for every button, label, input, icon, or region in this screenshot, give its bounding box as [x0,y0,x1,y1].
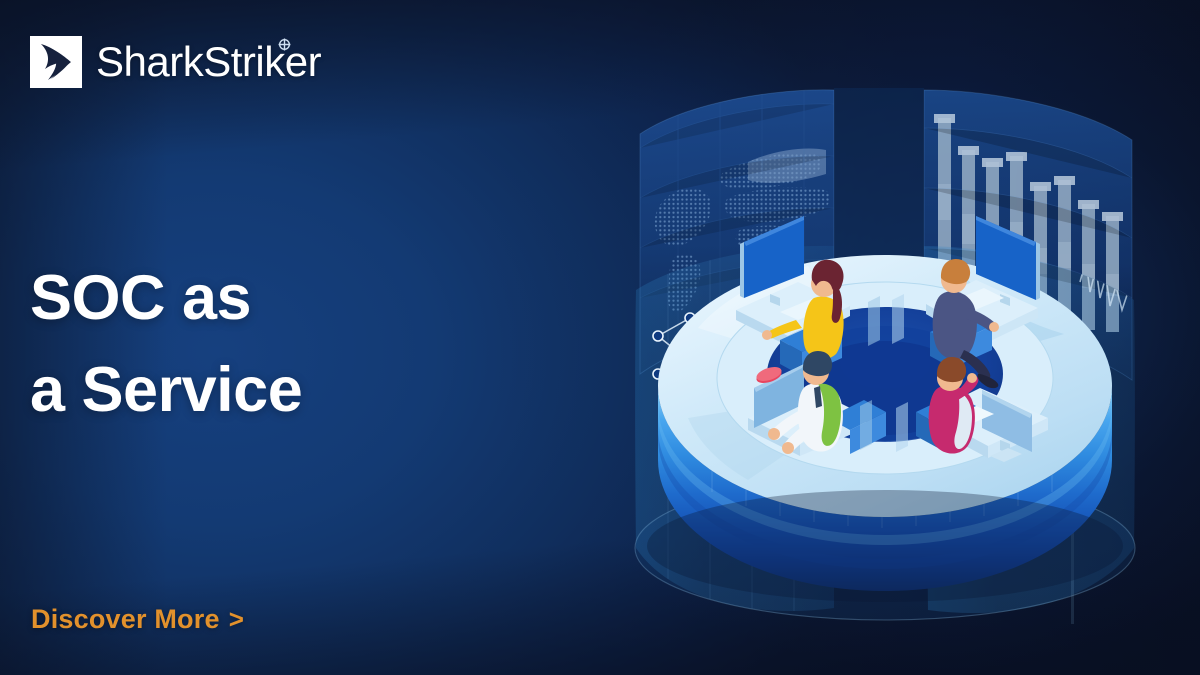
logo-wordmark-striker: Striker [203,38,321,85]
logo-wordmark-shark: Shark [96,38,203,85]
headline-line-2: a Service [30,345,302,437]
logo-wordmark: SharkStriker [96,41,321,83]
headline-line-1: SOC as [30,253,302,345]
discover-more-label: Discover More [31,604,220,635]
logo-lockup[interactable]: SharkStriker [30,36,321,88]
discover-more-link[interactable]: Discover More > [31,604,244,635]
chevron-right-icon: > [229,604,244,635]
isometric-soc-command-center-illustration [628,88,1200,648]
page-title: SOC as a Service [30,253,302,437]
soc-as-a-service-banner: SharkStriker SOC as a Service Discover M… [0,0,1200,675]
shark-fin-mark-icon [30,36,82,88]
crosshair-target-icon [278,38,291,51]
